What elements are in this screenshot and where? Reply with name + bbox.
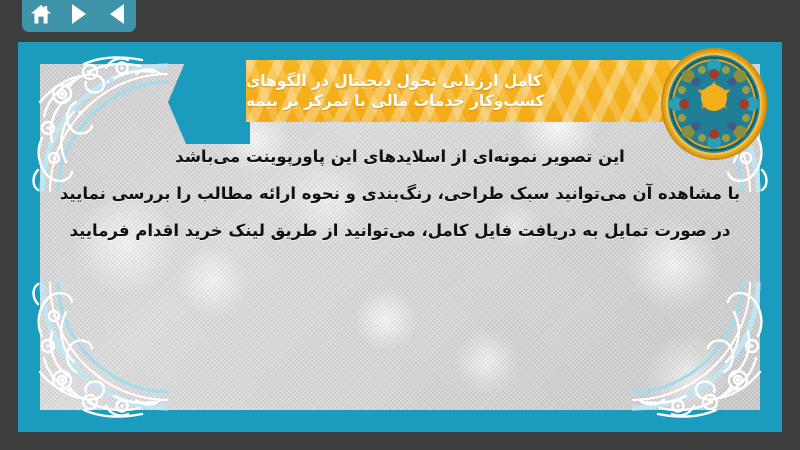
slide-title-line-1: کامل ارزیابی تحول دیجیتال در الگوهای bbox=[246, 71, 542, 91]
triangle-right-icon bbox=[72, 4, 86, 24]
home-icon bbox=[30, 4, 52, 25]
slide-frame: کامل ارزیابی تحول دیجیتال در الگوهای کسب… bbox=[18, 42, 782, 432]
next-slide-button[interactable] bbox=[66, 2, 92, 26]
slide-canvas: کامل ارزیابی تحول دیجیتال در الگوهای کسب… bbox=[0, 0, 800, 450]
slide-title-line-2: کسب‌وکار خدمات مالی با تمرکز بر بیمه bbox=[246, 91, 545, 111]
body-line-1: این تصویر نمونه‌ای از اسلایدهای این پاور… bbox=[40, 138, 760, 175]
triangle-left-icon bbox=[110, 4, 124, 24]
body-line-2: با مشاهده آن می‌توانید سبک طراحی، رنگ‌بن… bbox=[40, 175, 760, 212]
body-line-3: در صورت تمایل به دریافت فایل کامل، می‌تو… bbox=[40, 212, 760, 249]
slide-title-banner: کامل ارزیابی تحول دیجیتال در الگوهای کسب… bbox=[246, 60, 714, 122]
navigation-toolbar bbox=[22, 0, 136, 32]
home-button[interactable] bbox=[28, 2, 54, 26]
previous-slide-button[interactable] bbox=[104, 2, 130, 26]
slide-body-text: این تصویر نمونه‌ای از اسلایدهای این پاور… bbox=[40, 138, 760, 249]
medallion-ornament bbox=[660, 48, 768, 160]
